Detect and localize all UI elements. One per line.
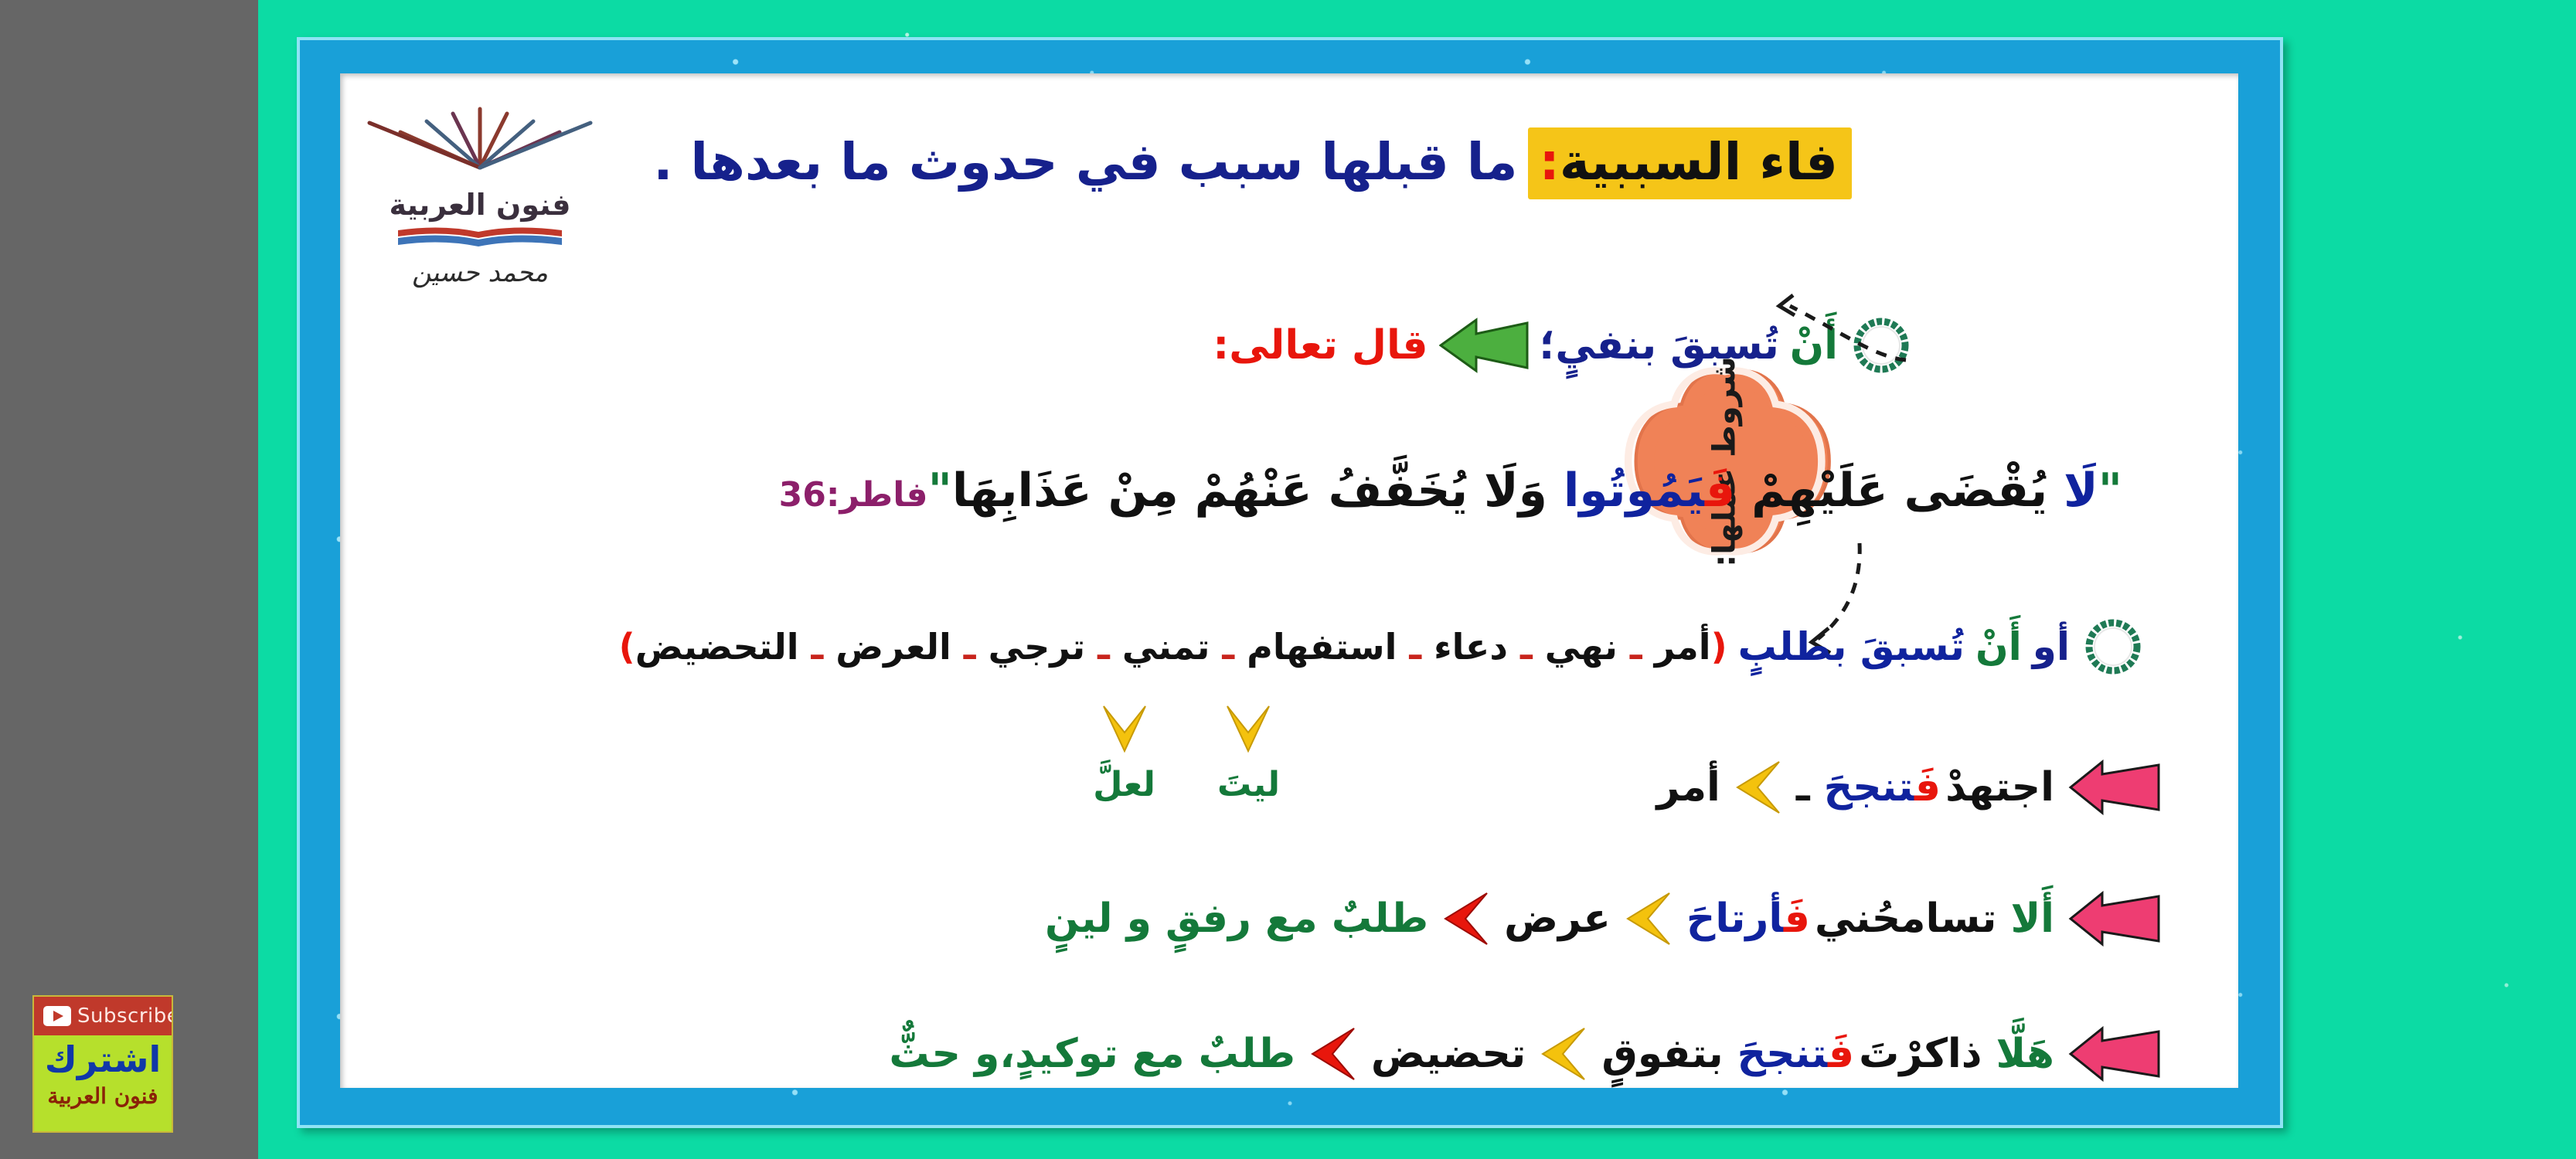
slide-stage: فنون العربية محمد حسين فاء السببية:ما قب…: [0, 0, 2576, 1159]
open-book-icon: [395, 224, 565, 255]
example-fa: فَ: [1784, 896, 1810, 942]
list-separator: ـ: [1618, 626, 1655, 668]
red-left-chevron-icon: [1309, 1025, 1357, 1083]
request-type-item: استفهام: [1247, 626, 1397, 668]
badge-label: شروط عملها:: [1622, 335, 1827, 590]
condition-two-an: أَنْ: [1975, 627, 2022, 666]
logo-author: محمد حسين: [340, 257, 646, 288]
example-sentence-green: أَلا: [2010, 896, 2054, 942]
condition-two-aw: أو: [2033, 627, 2070, 666]
request-type-item: دعاء: [1434, 626, 1508, 668]
example-sentence-tail: بتفوقٍ: [1601, 1031, 1723, 1077]
list-separator: ـ: [1508, 626, 1545, 668]
pink-left-arrow-icon: [2068, 889, 2161, 949]
yellow-down-chevron-icon: [1101, 703, 1148, 765]
green-scalloped-bullet-icon: [1849, 313, 1914, 378]
example-row: هَلَّا ذاكرْتَ فَتنجحَ بتفوقٍ تحضيض طلبٌ…: [889, 1024, 2161, 1084]
example-type-label: عرض: [1504, 896, 1611, 942]
subscribe-bar[interactable]: Subscribe: [34, 997, 172, 1035]
list-separator: ـ: [799, 626, 836, 668]
verse-reference: فاطر:36: [779, 475, 928, 515]
example-row: أَلا تسامحُني فَأرتاحَ عرض طلبٌ مع رفقٍ …: [1045, 889, 2161, 949]
list-open-paren: (: [1711, 626, 1727, 668]
condition-two-row: أو أَنْ تُسبقَ بطلبٍ (أمر ـ نهي ـ دعاء ـ…: [619, 614, 2146, 679]
list-separator: ـ: [1210, 626, 1247, 668]
example-fa: فَ: [1828, 1031, 1854, 1077]
subscribe-badge[interactable]: Subscribe اشترك فنون العربية: [32, 995, 173, 1133]
request-type-item: التحضيض: [635, 626, 799, 668]
annotation-layta: ليتَ: [1217, 703, 1280, 804]
verse-open-quote: ": [2098, 464, 2122, 518]
annotation-laalla: لعلَّ: [1093, 703, 1155, 804]
request-types-list: (أمر ـ نهي ـ دعاء ـ استفهام ـ تمني ـ ترج…: [619, 629, 1727, 664]
list-close-paren: ): [619, 626, 635, 668]
request-type-item: العرض: [835, 626, 951, 668]
verse-tail: وَلَا يُخَفَّفُ عَنْهُمْ مِنْ عَذَابِهَا: [952, 464, 1547, 518]
example-sentence-black: اجتهدْ: [1945, 764, 2054, 811]
green-left-arrow-icon: [1439, 317, 1529, 374]
channel-logo: فنون العربية محمد حسين: [340, 97, 646, 321]
example-sentence-blue: أرتاحَ: [1686, 896, 1784, 942]
title-definition: ما قبلها سبب في حدوث ما بعدها .: [653, 132, 1528, 192]
pink-left-arrow-icon: [2068, 1024, 2161, 1084]
quran-intro-label: قال تعالى:: [1213, 325, 1428, 365]
conditions-badge: شروط عملها:: [1597, 359, 1852, 564]
condition-two-text: تُسبقَ بطلبٍ: [1738, 627, 1965, 666]
slide-canvas: فنون العربية محمد حسين فاء السببية:ما قب…: [340, 73, 2238, 1088]
request-type-item: أمر: [1655, 626, 1711, 668]
annotation-group: ليتَ لعلَّ: [1093, 703, 1280, 804]
yellow-left-chevron-icon: [1540, 1025, 1587, 1083]
example-row: اجتهدْ فَتنجحَ ـ أمر: [1656, 757, 2161, 817]
page-title: فاء السببية:ما قبلها سبب في حدوث ما بعده…: [653, 137, 1852, 188]
logo-title: فنون العربية: [340, 188, 646, 222]
pink-left-arrow-icon: [2068, 757, 2161, 817]
example-type-label: تحضيض: [1371, 1031, 1526, 1077]
verse-fa: فَ: [1705, 464, 1735, 518]
quran-verse-row: "لَا يُقْضَى عَلَيْهِمْ فَيَمُوتُوا وَلَ…: [779, 467, 2122, 514]
request-type-item: ترجي: [989, 626, 1086, 668]
request-type-item: نهي: [1545, 626, 1618, 668]
example-explanation: طلبٌ مع توكيدٍ،و حثٌّ: [889, 1031, 1295, 1077]
list-separator: ـ: [951, 626, 989, 668]
list-separator: ـ: [1085, 626, 1122, 668]
title-term: فاء السببية: [1560, 132, 1838, 192]
verse-yamutu: يَمُوتُوا: [1564, 464, 1705, 518]
subscribe-english-label: Subscribe: [77, 1004, 173, 1028]
title-colon: :: [1539, 132, 1559, 192]
annotation-layta-label: ليتَ: [1217, 765, 1280, 804]
verse-laa: لَا: [2064, 464, 2098, 518]
verse-mid: يُقْضَى عَلَيْهِمْ: [1751, 464, 2047, 518]
example-sentence-green: هَلَّا: [1996, 1031, 2054, 1077]
yellow-left-chevron-icon: [1734, 759, 1782, 816]
yellow-left-chevron-icon: [1625, 890, 1673, 947]
example-sentence-blue: تنجحَ: [1824, 764, 1914, 811]
request-type-item: تمني: [1122, 626, 1210, 668]
annotation-laalla-label: لعلَّ: [1093, 765, 1155, 804]
list-separator: ـ: [1397, 626, 1434, 668]
verse-close-quote: ": [928, 464, 952, 518]
green-scalloped-bullet-icon: [2081, 614, 2146, 679]
example-sentence-blue: تنجحَ: [1737, 1031, 1828, 1077]
subscribe-arabic-label: اشترك: [34, 1038, 172, 1080]
subscribe-brand-label: فنون العربية: [34, 1083, 172, 1109]
example-fa: فَ: [1914, 764, 1941, 811]
example-explanation: طلبٌ مع رفقٍ و لينٍ: [1045, 896, 1428, 942]
red-left-chevron-icon: [1442, 890, 1490, 947]
example-type-label: أمر: [1656, 764, 1720, 811]
example-sentence-black: تسامحُني: [1815, 896, 1996, 942]
example-sentence-tail: ـ: [1796, 764, 1810, 811]
example-sentence-black: ذاكرْتَ: [1859, 1031, 1982, 1077]
yellow-down-chevron-icon: [1224, 703, 1272, 765]
youtube-play-icon: [43, 1006, 71, 1026]
